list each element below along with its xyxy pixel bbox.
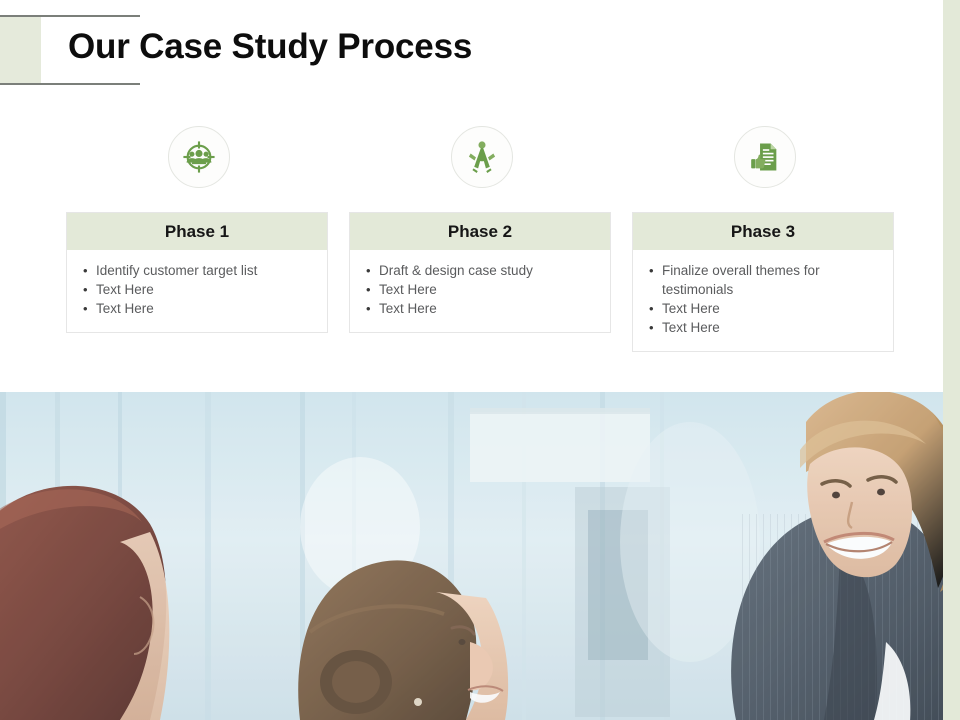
phase-card-title: Phase 3 — [731, 222, 795, 242]
phase-card-2[interactable]: Phase 2 Draft & design case study Text H… — [349, 212, 611, 333]
phase-card-body: Finalize overall themes for testimonials… — [633, 250, 893, 351]
checklist-approved-icon — [734, 126, 796, 188]
phase-card-body: Identify customer target list Text Here … — [67, 250, 327, 332]
list-item: Finalize overall themes for testimonials — [643, 261, 883, 299]
title-rule-bottom — [0, 83, 140, 85]
list-item: Draft & design case study — [360, 261, 600, 280]
phase-card-title: Phase 1 — [165, 222, 229, 242]
list-item: Text Here — [360, 280, 600, 299]
phase-bullet-list: Finalize overall themes for testimonials… — [643, 261, 883, 337]
phase-card-header: Phase 3 — [633, 213, 893, 250]
phase-card-header: Phase 1 — [67, 213, 327, 250]
target-audience-icon — [168, 126, 230, 188]
list-item: Text Here — [77, 299, 317, 318]
page-title: Our Case Study Process — [68, 22, 472, 72]
drafting-compass-icon — [451, 126, 513, 188]
list-item: Text Here — [360, 299, 600, 318]
icon-row — [0, 126, 905, 190]
title-block: Our Case Study Process — [0, 0, 905, 100]
right-accent-strip — [943, 0, 960, 720]
phase-card-title: Phase 2 — [448, 222, 512, 242]
phase-card-body: Draft & design case study Text Here Text… — [350, 250, 610, 332]
list-item: Text Here — [643, 299, 883, 318]
slide-canvas: Our Case Study Process — [0, 0, 960, 720]
phase-card-3[interactable]: Phase 3 Finalize overall themes for test… — [632, 212, 894, 352]
phase-bullet-list: Draft & design case study Text Here Text… — [360, 261, 600, 318]
list-item: Text Here — [643, 318, 883, 337]
phase-bullet-list: Identify customer target list Text Here … — [77, 261, 317, 318]
list-item: Identify customer target list — [77, 261, 317, 280]
business-meeting-photo — [0, 392, 943, 720]
title-accent-swatch — [0, 17, 41, 83]
list-item: Text Here — [77, 280, 317, 299]
phase-card-header: Phase 2 — [350, 213, 610, 250]
phase-card-1[interactable]: Phase 1 Identify customer target list Te… — [66, 212, 328, 333]
